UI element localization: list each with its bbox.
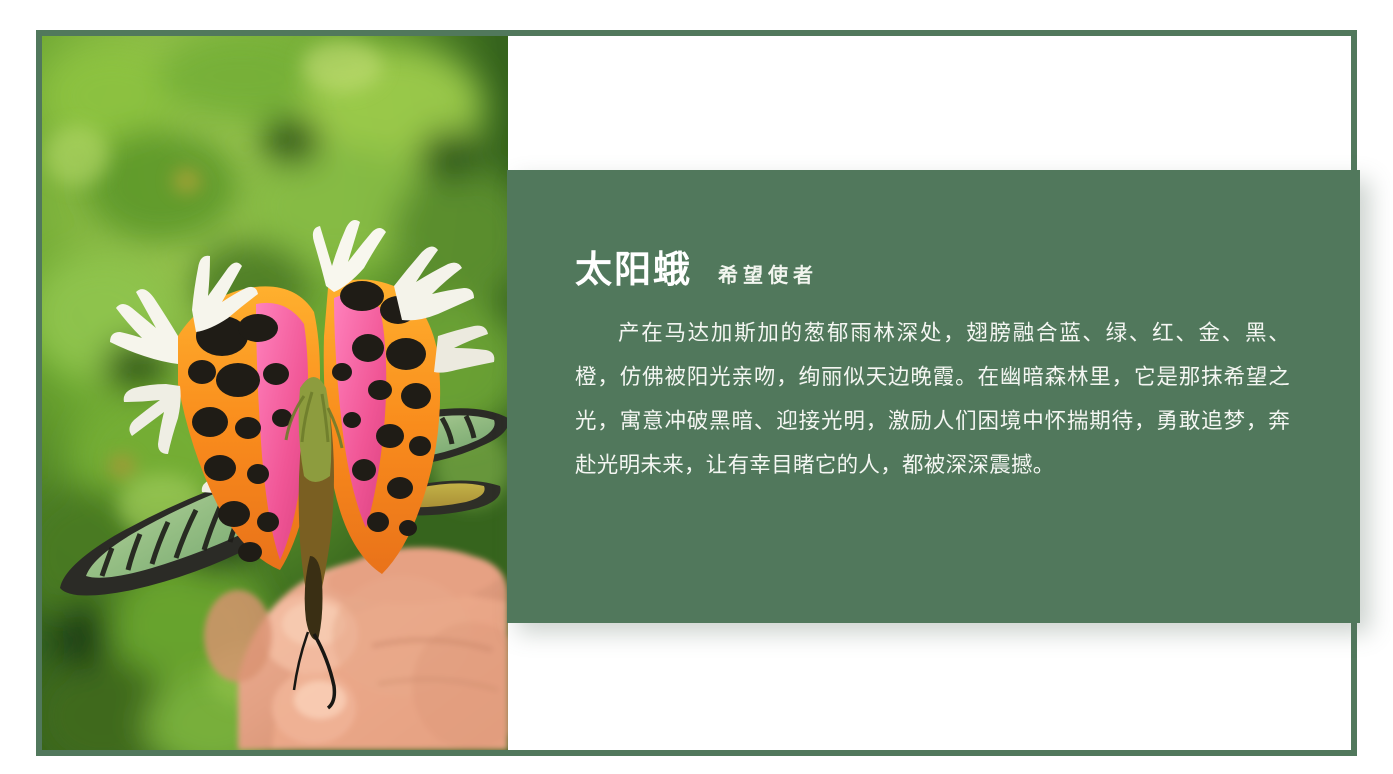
description-text: 产在马达加斯加的葱郁雨林深处，翅膀融合蓝、绿、红、金、黑、橙，仿佛被阳光亲吻，绚… — [575, 311, 1290, 487]
title-row: 太阳蛾 希望使者 — [575, 250, 1290, 291]
moth-photo-illustration — [42, 36, 508, 750]
page-subtitle: 希望使者 — [718, 259, 818, 288]
page-title: 太阳蛾 — [575, 250, 692, 291]
moth-photo — [42, 36, 508, 750]
slide-root: 太阳蛾 希望使者 产在马达加斯加的葱郁雨林深处，翅膀融合蓝、绿、红、金、黑、橙，… — [0, 0, 1393, 774]
info-panel-content: 太阳蛾 希望使者 产在马达加斯加的葱郁雨林深处，翅膀融合蓝、绿、红、金、黑、橙，… — [575, 250, 1290, 487]
info-panel: 太阳蛾 希望使者 产在马达加斯加的葱郁雨林深处，翅膀融合蓝、绿、红、金、黑、橙，… — [507, 170, 1360, 623]
